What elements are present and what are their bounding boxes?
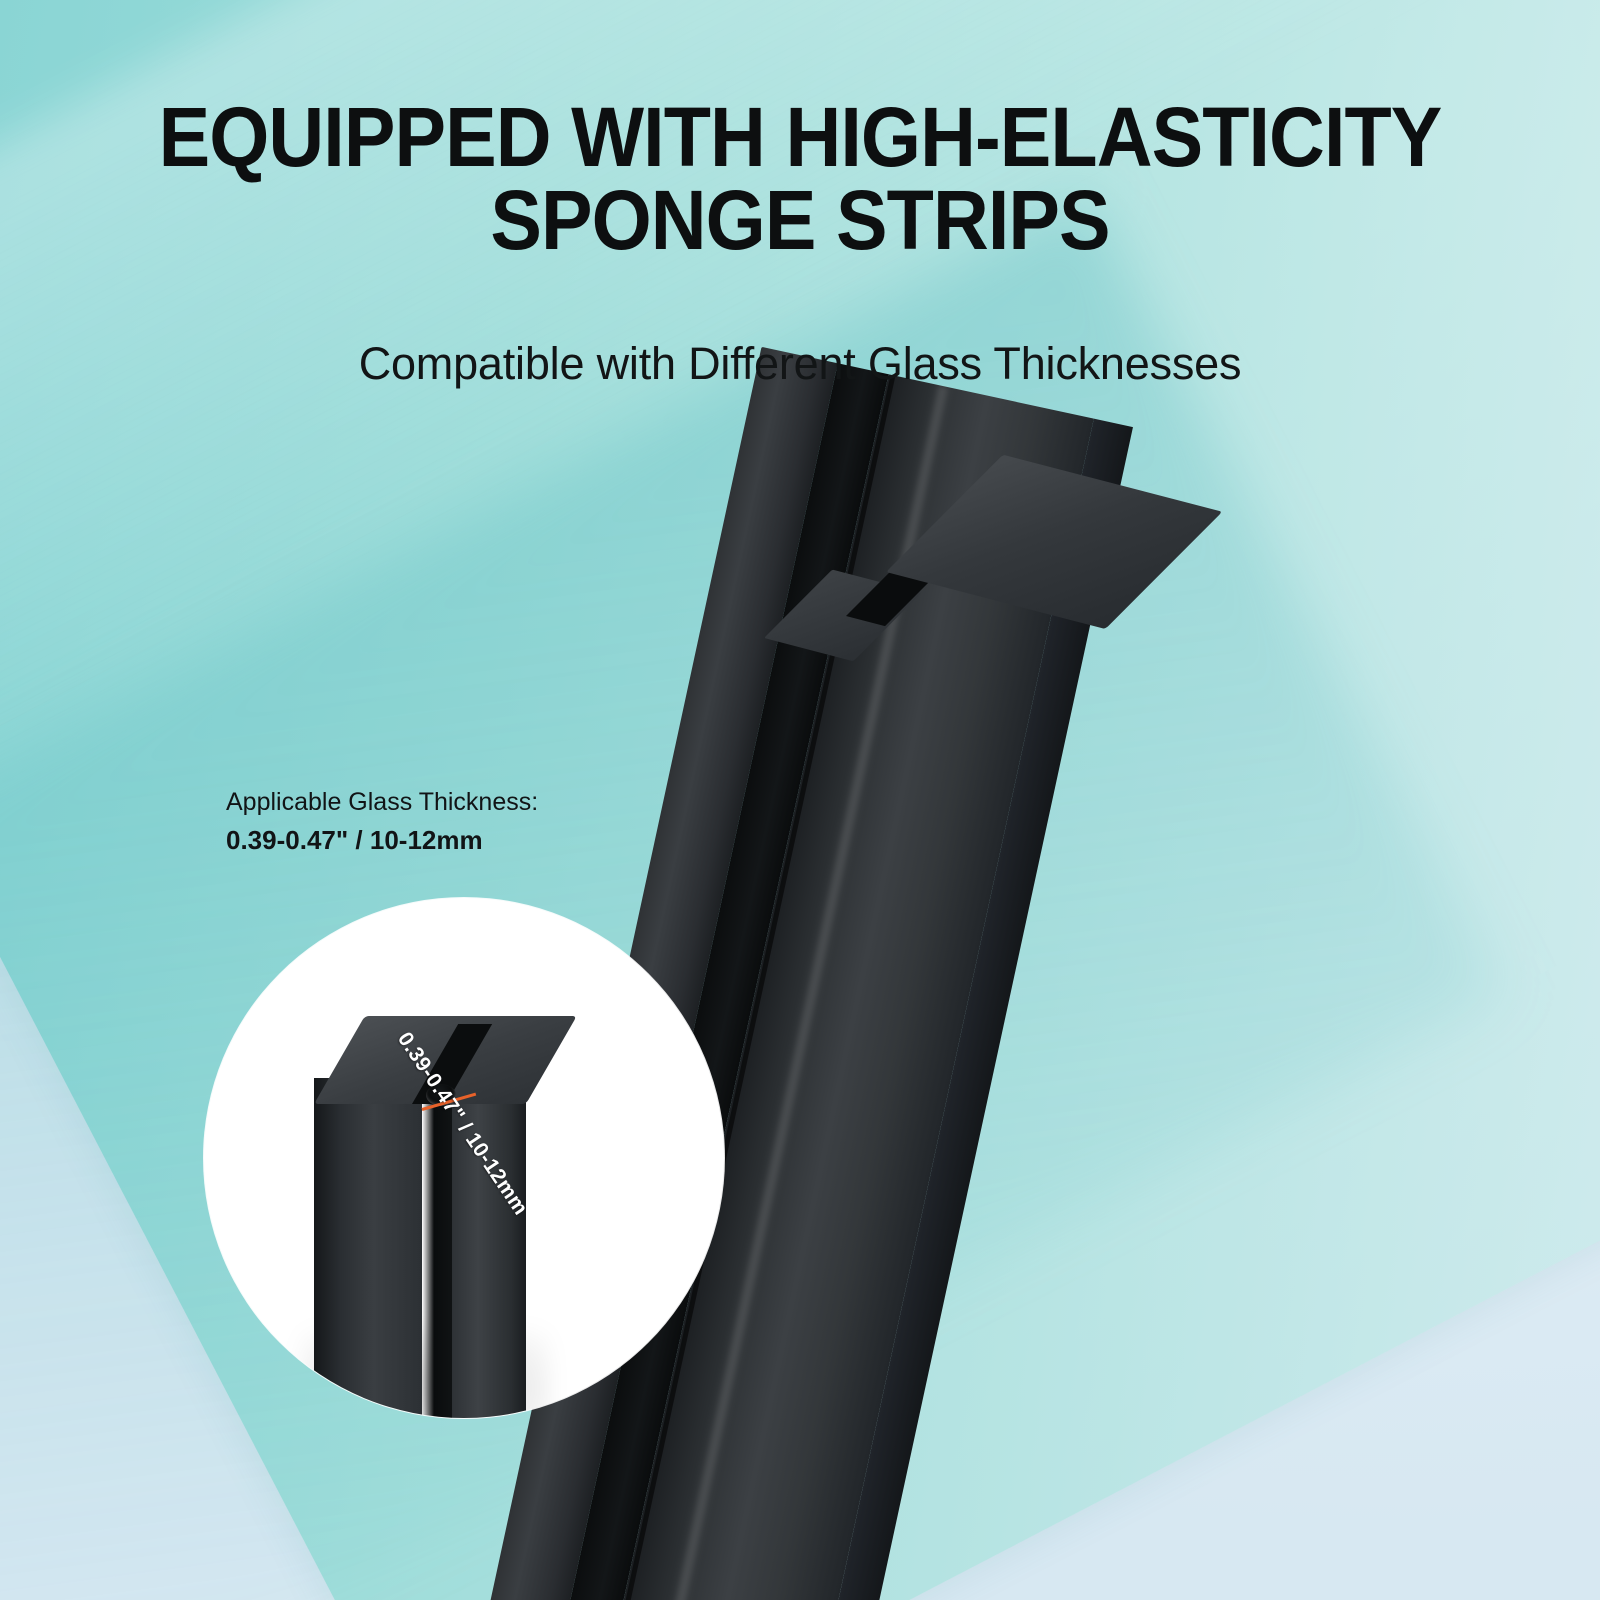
headline-line-1: EQUIPPED WITH HIGH-ELASTICITY bbox=[159, 90, 1442, 184]
product-infographic: EQUIPPED WITH HIGH-ELASTICITY SPONGE STR… bbox=[0, 0, 1600, 1600]
spec-value: 0.39-0.47" / 10-12mm bbox=[226, 823, 538, 858]
detail-callout-content: 0.39-0.47" / 10-12mm bbox=[204, 898, 724, 1418]
detail-profile-groove bbox=[422, 1094, 452, 1418]
headline: EQUIPPED WITH HIGH-ELASTICITY SPONGE STR… bbox=[64, 96, 1536, 262]
detail-profile-body bbox=[314, 1078, 422, 1418]
spec-label: Applicable Glass Thickness: bbox=[226, 786, 538, 820]
subheadline: Compatible with Different Glass Thicknes… bbox=[0, 338, 1600, 390]
headline-line-2: SPONGE STRIPS bbox=[64, 179, 1536, 262]
spec-caption: Applicable Glass Thickness: 0.39-0.47" /… bbox=[226, 786, 538, 858]
detail-callout-circle: 0.39-0.47" / 10-12mm bbox=[204, 898, 724, 1418]
